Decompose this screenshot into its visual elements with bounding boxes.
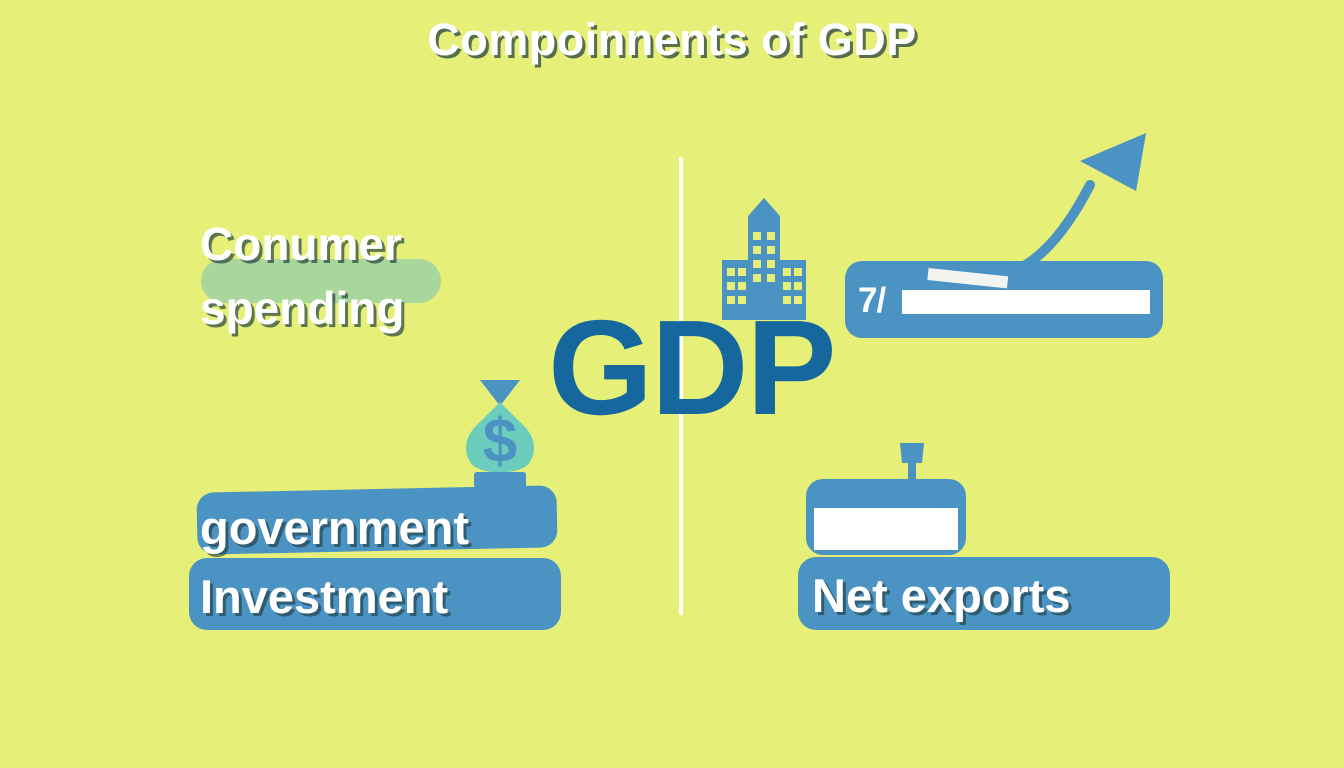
government-label: government: [200, 500, 469, 555]
cargo-container-icon: [806, 443, 976, 563]
consumer-spending-label: Conumer spending: [200, 212, 630, 340]
consumer-spending-line-2: spending: [200, 276, 630, 340]
net-exports-label: Net exports: [812, 568, 1071, 623]
page-title: Compoinnents of GDP: [0, 14, 1344, 66]
money-bag-icon: $: [456, 380, 544, 503]
building-icon: [720, 198, 816, 325]
investment-label: Investment: [200, 569, 448, 624]
progress-bar: [902, 290, 1150, 314]
growth-value-label: 7/: [858, 281, 885, 321]
dollar-sign-icon: $: [483, 407, 517, 476]
consumer-spending-line-1: Conumer: [200, 212, 630, 276]
slide-canvas: Compoinnents of GDP GDP Conumer spending: [0, 0, 1344, 768]
